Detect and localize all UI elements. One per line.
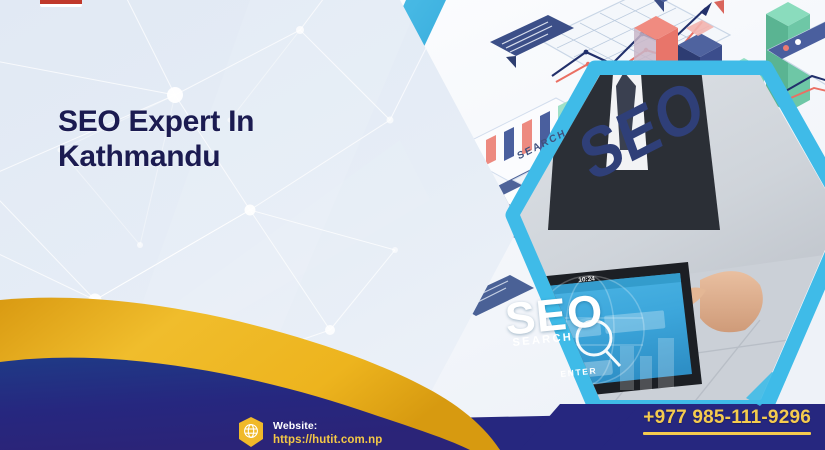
website-label: Website:: [273, 419, 382, 433]
footer-wave-layer: [0, 0, 825, 450]
phone-contact[interactable]: +977 985-111-9296: [643, 408, 811, 435]
logo-fragment: [40, 0, 82, 7]
seo-marketing-banner: SEARCH SEO: [0, 0, 825, 450]
website-url[interactable]: https://hutit.com.np: [273, 433, 382, 449]
website-contact[interactable]: Website: https://hutit.com.np: [238, 417, 382, 449]
globe-icon: [238, 417, 264, 447]
phone-underline: [643, 432, 811, 435]
phone-number[interactable]: +977 985-111-9296: [643, 408, 811, 429]
